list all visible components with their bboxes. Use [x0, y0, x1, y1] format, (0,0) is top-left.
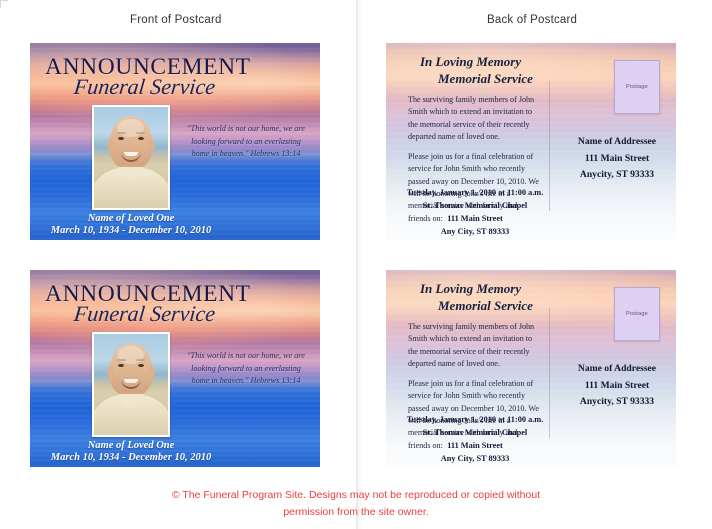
- portrait-brow-right: [136, 359, 145, 361]
- copyright-footer: © The Funeral Program Site. Designs may …: [0, 487, 712, 521]
- front-postcard-row2[interactable]: ANNOUNCEMENT Funeral Service "This world…: [30, 270, 320, 467]
- portrait-eye-left: [118, 137, 124, 140]
- addressee-city: Anycity, ST 93333: [562, 167, 672, 184]
- loved-one-dates: March 10, 1934 - December 10, 2010: [36, 224, 226, 238]
- back-of-postcard-label: Back of Postcard: [487, 14, 577, 26]
- copyright-line-1: © The Funeral Program Site. Designs may …: [0, 487, 712, 504]
- page-corner-tick: [0, 0, 8, 8]
- event-city: Any City, ST 89333: [402, 226, 548, 239]
- addressee-block: Name of Addressee 111 Main Street Anycit…: [562, 134, 672, 184]
- event-datetime: Tuesday, January 1, 2010 at 11:00 a.m.: [402, 414, 548, 427]
- loved-one-dates: March 10, 1934 - December 10, 2010: [36, 451, 226, 465]
- portrait-eye-right: [138, 137, 144, 140]
- portrait-photo: [94, 107, 168, 208]
- event-street: 111 Main Street: [402, 440, 548, 453]
- event-venue: St. Thomas Memorial Chapel: [402, 427, 548, 440]
- vertical-divider: [549, 81, 550, 211]
- postage-stamp-box: Postage: [614, 287, 660, 341]
- scripture-quote: "This world is not our home, we are look…: [182, 350, 310, 388]
- portrait-brow-left: [117, 132, 126, 134]
- scripture-quote: "This world is not our home, we are look…: [182, 123, 310, 161]
- in-loving-memory-title: In Loving Memory: [420, 55, 521, 68]
- event-street: 111 Main Street: [402, 213, 548, 226]
- event-details: Tuesday, January 1, 2010 at 11:00 a.m. S…: [402, 187, 548, 238]
- memorial-paragraph-1: The surviving family members of John Smi…: [408, 94, 540, 143]
- vertical-divider: [549, 308, 550, 438]
- addressee-name: Name of Addressee: [562, 361, 672, 378]
- event-venue: St. Thomas Memorial Chapel: [402, 200, 548, 213]
- addressee-block: Name of Addressee 111 Main Street Anycit…: [562, 361, 672, 411]
- portrait-ear-right: [148, 139, 155, 151]
- event-details: Tuesday, January 1, 2010 at 11:00 a.m. S…: [402, 414, 548, 465]
- addressee-city: Anycity, ST 93333: [562, 394, 672, 411]
- addressee-name: Name of Addressee: [562, 134, 672, 151]
- front-of-postcard-label: Front of Postcard: [130, 14, 222, 26]
- funeral-service-subtitle: Funeral Service: [73, 76, 216, 98]
- memorial-service-subtitle: Memorial Service: [438, 299, 533, 312]
- portrait-ear-left: [107, 366, 114, 378]
- portrait-ear-left: [107, 139, 114, 151]
- back-postcard-row2[interactable]: In Loving Memory Memorial Service The su…: [386, 270, 676, 467]
- portrait-ear-right: [148, 366, 155, 378]
- postage-label: Postage: [626, 311, 648, 317]
- portrait-frame: [92, 105, 170, 210]
- copyright-line-2: permission from the site owner.: [0, 504, 712, 521]
- back-postcard-row1[interactable]: In Loving Memory Memorial Service The su…: [386, 43, 676, 240]
- memorial-service-subtitle: Memorial Service: [438, 72, 533, 85]
- page-fold-seam: [356, 0, 366, 529]
- addressee-street: 111 Main Street: [562, 378, 672, 395]
- portrait-eye-right: [138, 364, 144, 367]
- memorial-paragraph-1: The surviving family members of John Smi…: [408, 321, 540, 370]
- portrait-photo: [94, 334, 168, 435]
- portrait-brow-right: [136, 132, 145, 134]
- event-datetime: Tuesday, January 1, 2010 at 11:00 a.m.: [402, 187, 548, 200]
- portrait-frame: [92, 332, 170, 437]
- portrait-brow-left: [117, 359, 126, 361]
- event-city: Any City, ST 89333: [402, 453, 548, 466]
- front-postcard-row1[interactable]: ANNOUNCEMENT Funeral Service "This world…: [30, 43, 320, 240]
- portrait-eye-left: [118, 364, 124, 367]
- addressee-street: 111 Main Street: [562, 151, 672, 168]
- postage-stamp-box: Postage: [614, 60, 660, 114]
- funeral-service-subtitle: Funeral Service: [73, 303, 216, 325]
- in-loving-memory-title: In Loving Memory: [420, 282, 521, 295]
- postage-label: Postage: [626, 84, 648, 90]
